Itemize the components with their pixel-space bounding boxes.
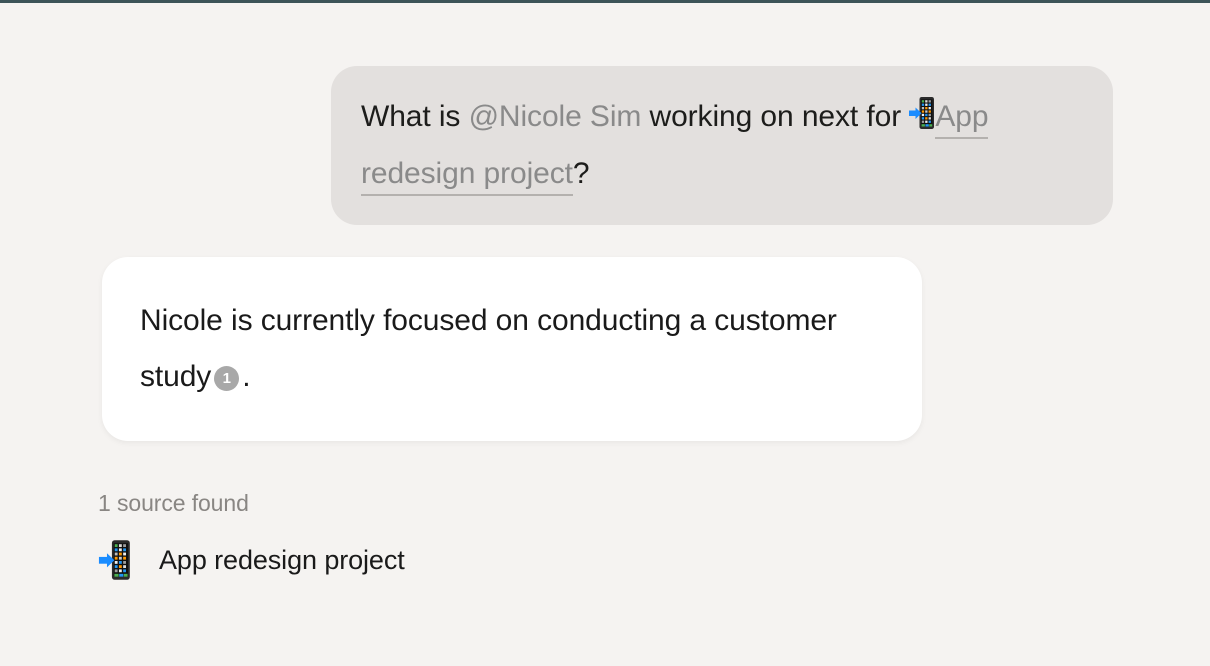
question-suffix: ? <box>573 157 590 190</box>
mobile-phone-with-arrow-icon <box>909 96 935 130</box>
question-bubble: What is @Nicole Sim working on next for <box>331 66 1113 225</box>
question-prefix: What is <box>361 100 469 133</box>
top-accent-strip <box>0 0 1210 3</box>
question-text: What is @Nicole Sim working on next for <box>361 88 1077 202</box>
mention-nicole-sim[interactable]: @Nicole Sim <box>469 100 642 133</box>
answer-text: Nicole is currently focused on conductin… <box>140 293 882 405</box>
citation-badge[interactable]: 1 <box>214 366 239 391</box>
sources-count-label: 1 source found <box>98 492 698 515</box>
sources-section: 1 source found <box>98 492 698 581</box>
source-list-item[interactable]: App redesign project <box>98 539 698 581</box>
question-middle: working on next for <box>641 100 909 133</box>
source-item-label[interactable]: App redesign project <box>159 545 405 576</box>
mobile-phone-with-arrow-icon <box>98 539 132 581</box>
answer-trailing: . <box>242 360 250 393</box>
answer-card: Nicole is currently focused on conductin… <box>102 257 922 441</box>
